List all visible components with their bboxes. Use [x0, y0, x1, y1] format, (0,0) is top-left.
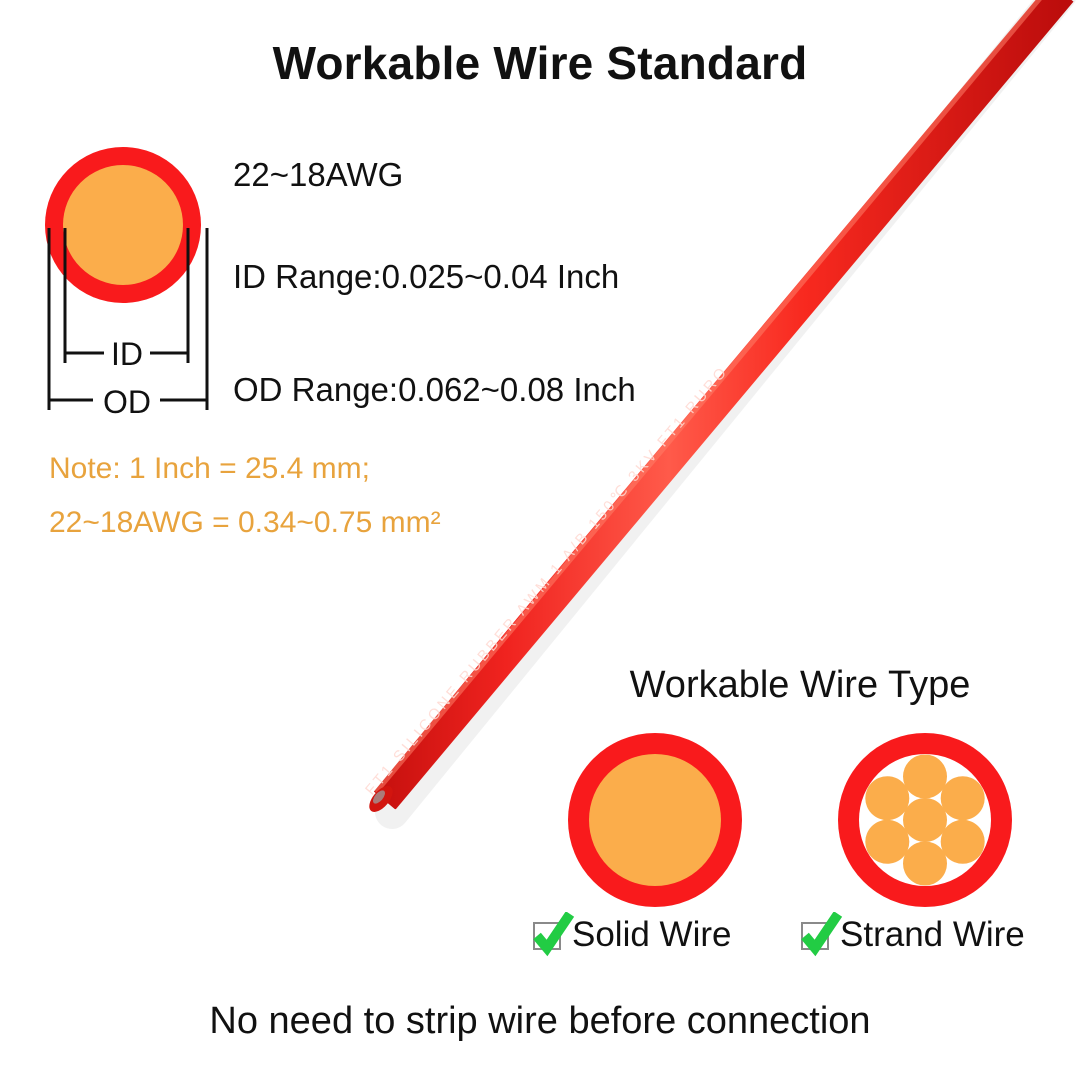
conductor-core: [63, 165, 183, 285]
id-dimension: ID: [65, 336, 188, 372]
page-title: Workable Wire Standard: [0, 36, 1080, 90]
infographic-canvas: FT1 SILICONE RUBBER AWM 1 A/B 150℃ 3KV F…: [0, 0, 1080, 1080]
wire-type-option-solid[interactable]: Solid Wire: [532, 915, 731, 955]
strand-wire-cross-section: [835, 730, 1015, 910]
checkbox-strand-wire[interactable]: [800, 918, 834, 952]
option-label-solid: Solid Wire: [572, 915, 731, 955]
od-dimension-label: OD: [103, 384, 151, 420]
option-label-strand: Strand Wire: [840, 915, 1025, 955]
id-dimension-label: ID: [111, 336, 143, 372]
wire-type-heading: Workable Wire Type: [560, 664, 1040, 707]
solid-conductor-core: [589, 754, 721, 886]
spec-od-range: OD Range:0.062~0.08 Inch: [233, 371, 636, 409]
wire-cross-section-diagram: ID OD: [38, 140, 238, 420]
footer-note: No need to strip wire before connection: [0, 1000, 1080, 1043]
wire-type-option-strand[interactable]: Strand Wire: [800, 915, 1025, 955]
solid-wire-cross-section: [565, 730, 745, 910]
od-dimension: OD: [49, 384, 207, 420]
spec-id-range: ID Range:0.025~0.04 Inch: [233, 258, 619, 296]
check-icon: [800, 912, 844, 958]
note-line-1: Note: 1 Inch = 25.4 mm;: [49, 452, 370, 486]
checkbox-solid-wire[interactable]: [532, 918, 566, 952]
check-icon: [532, 912, 576, 958]
spec-awg-range: 22~18AWG: [233, 156, 403, 194]
note-line-2: 22~18AWG = 0.34~0.75 mm²: [49, 506, 441, 540]
